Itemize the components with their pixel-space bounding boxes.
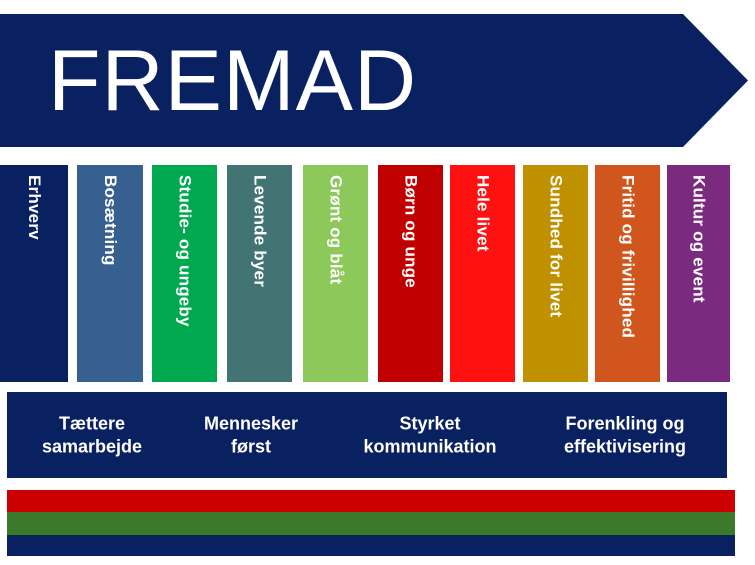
pillar-label: Levende byer (251, 175, 269, 287)
value-item[interactable]: Mennesker først (204, 413, 298, 458)
pillar-label: Erhverv (25, 175, 43, 240)
pillar-label: Grønt og blåt (327, 175, 345, 284)
pillar-bar[interactable]: Bosætning (77, 165, 143, 382)
pillar-bar[interactable]: Fritid og frivillighed (595, 165, 660, 382)
pillar-label: Sundhed for livet (547, 175, 565, 317)
pillar-bars: ErhvervBosætningStudie- og ungebyLevende… (0, 165, 755, 382)
pillar-bar[interactable]: Hele livet (450, 165, 515, 382)
pillar-bar[interactable]: Kultur og event (667, 165, 730, 382)
banner-title: FREMAD (48, 38, 417, 124)
fremad-banner: FREMAD (0, 14, 748, 147)
pillar-bar[interactable]: Børn og unge (378, 165, 443, 382)
values-band: Tættere samarbejdeMennesker førstStyrket… (7, 392, 727, 478)
pillar-label: Kultur og event (690, 175, 708, 303)
pillar-label: Fritid og frivillighed (619, 175, 637, 338)
pillar-bar[interactable]: Grønt og blåt (303, 165, 368, 382)
pillar-label: Studie- og ungeby (176, 175, 194, 327)
red-stripe (7, 490, 735, 512)
green-stripe (7, 512, 735, 535)
pillar-label: Hele livet (474, 175, 492, 252)
navy-stripe (7, 535, 735, 556)
pillar-bar[interactable]: Erhverv (0, 165, 68, 382)
pillar-bar[interactable]: Sundhed for livet (523, 165, 588, 382)
value-item[interactable]: Tættere samarbejde (42, 413, 142, 458)
pillar-bar[interactable]: Studie- og ungeby (152, 165, 217, 382)
pillar-label: Børn og unge (402, 175, 420, 288)
pillar-bar[interactable]: Levende byer (227, 165, 292, 382)
pillar-label: Bosætning (101, 175, 119, 266)
value-item[interactable]: Styrket kommunikation (363, 413, 496, 458)
value-item[interactable]: Forenkling og effektivisering (564, 413, 686, 458)
